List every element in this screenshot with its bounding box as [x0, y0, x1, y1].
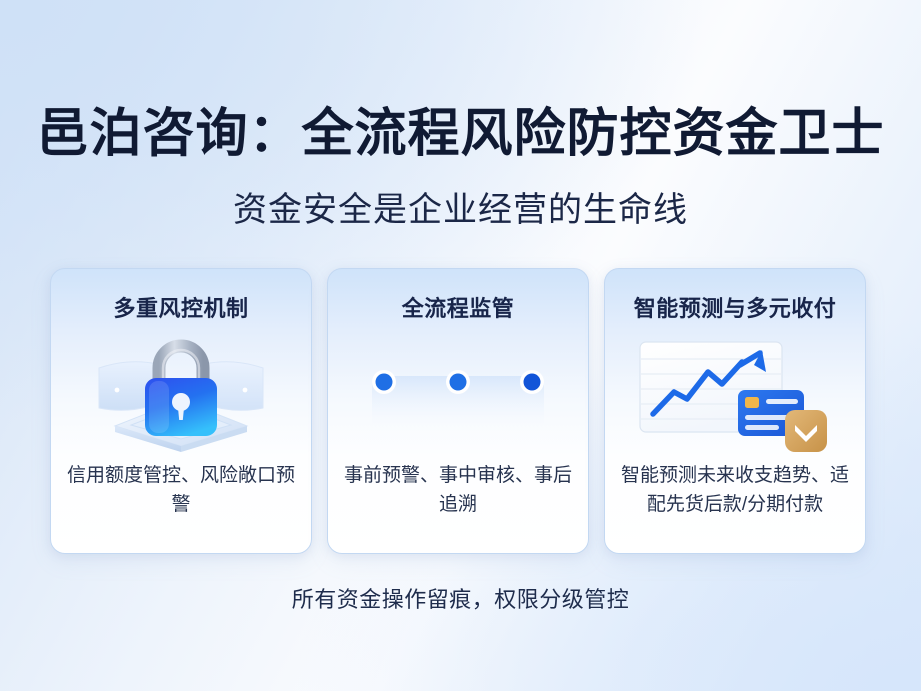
feature-card-risk-control[interactable]: 多重风控机制 [50, 268, 312, 554]
feature-card-description: 信用额度管控、风险敞口预警 [63, 461, 299, 519]
timeline-three-dots-icon [358, 334, 558, 452]
feature-card-title: 智能预测与多元收付 [634, 295, 837, 323]
page-subtitle: 资金安全是企业经营的生命线 [0, 188, 921, 232]
page-title: 邑泊咨询：全流程风险防控资金卫士 [0, 104, 921, 164]
footer-note: 所有资金操作留痕，权限分级管控 [0, 585, 921, 615]
feature-card-row: 多重风控机制 [50, 268, 866, 554]
feature-card-forecast-payment[interactable]: 智能预测与多元收付 [604, 268, 866, 554]
feature-card-title: 多重风控机制 [113, 295, 248, 323]
slide-canvas: 邑泊咨询：全流程风险防控资金卫士 资金安全是企业经营的生命线 多重风控机制 [0, 0, 921, 691]
feature-card-art [328, 333, 588, 453]
feature-card-art [51, 333, 311, 453]
feature-card-description: 智能预测未来收支趋势、适配先货后款/分期付款 [617, 461, 853, 519]
feature-card-title: 全流程监管 [402, 295, 515, 323]
feature-card-art [605, 333, 865, 453]
trend-chart-card-icon [630, 332, 840, 454]
feature-card-full-process[interactable]: 全流程监管 [327, 268, 589, 554]
lock-shield-icon [91, 334, 271, 452]
feature-card-description: 事前预警、事中审核、事后追溯 [340, 461, 576, 519]
